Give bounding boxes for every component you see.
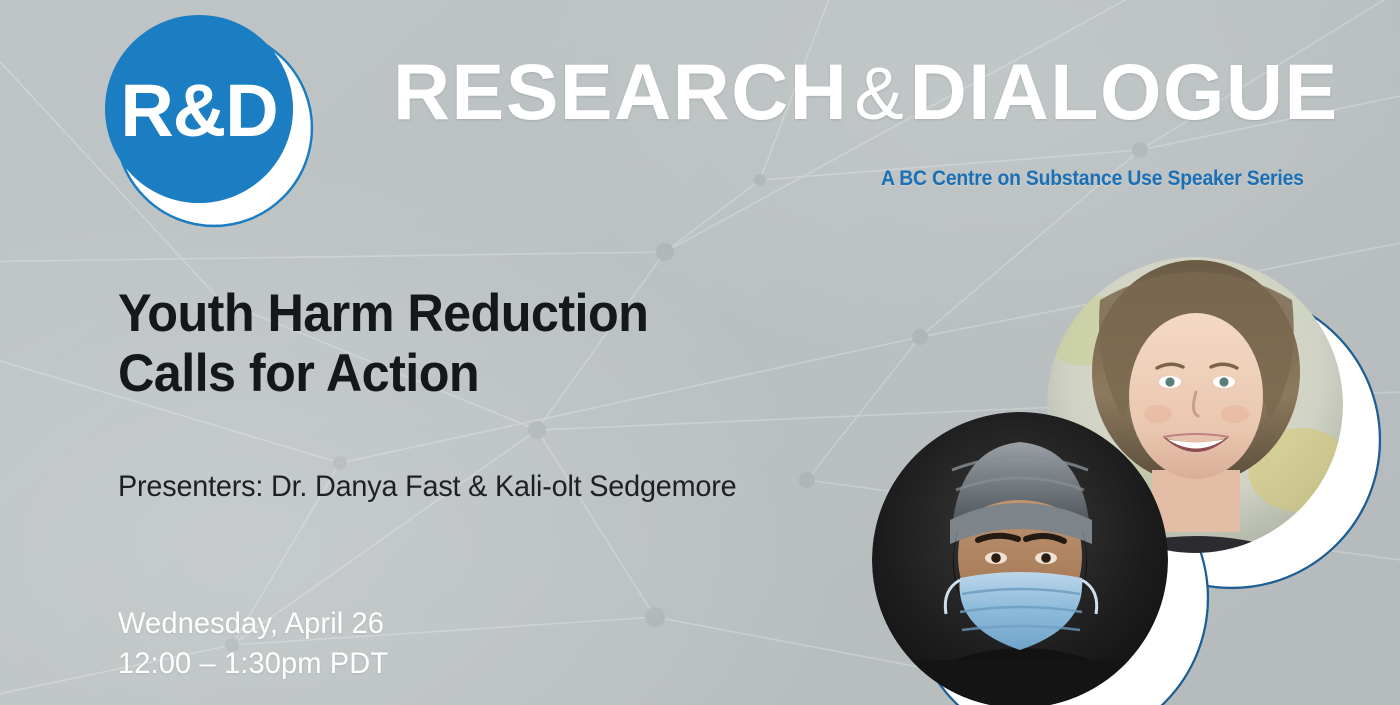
- poster-header: R&D RESEARCH&DIALOGUE A BC Centre on Sub…: [0, 0, 1400, 230]
- brand-subtitle: A BC Centre on Substance Use Speaker Ser…: [881, 166, 1304, 191]
- rd-logo-text: R&D: [120, 69, 277, 152]
- presenters-line: Presenters: Dr. Danya Fast & Kali-olt Se…: [118, 470, 848, 504]
- event-datetime: Wednesday, April 26 12:00 – 1:30pm PDT: [118, 604, 388, 684]
- brand-ampersand: &: [848, 52, 909, 135]
- rd-circle-logo: R&D: [88, 14, 332, 230]
- webinar-poster: R&D RESEARCH&DIALOGUE A BC Centre on Sub…: [0, 0, 1400, 705]
- brand-title: RESEARCH&DIALOGUE: [393, 52, 1339, 131]
- page-title: Youth Harm Reduction Calls for Action: [118, 284, 840, 404]
- brand-word-research: RESEARCH: [393, 47, 848, 136]
- brand-word-dialogue: DIALOGUE: [910, 47, 1339, 136]
- poster-copy: Youth Harm Reduction Calls for Action Pr…: [118, 284, 878, 504]
